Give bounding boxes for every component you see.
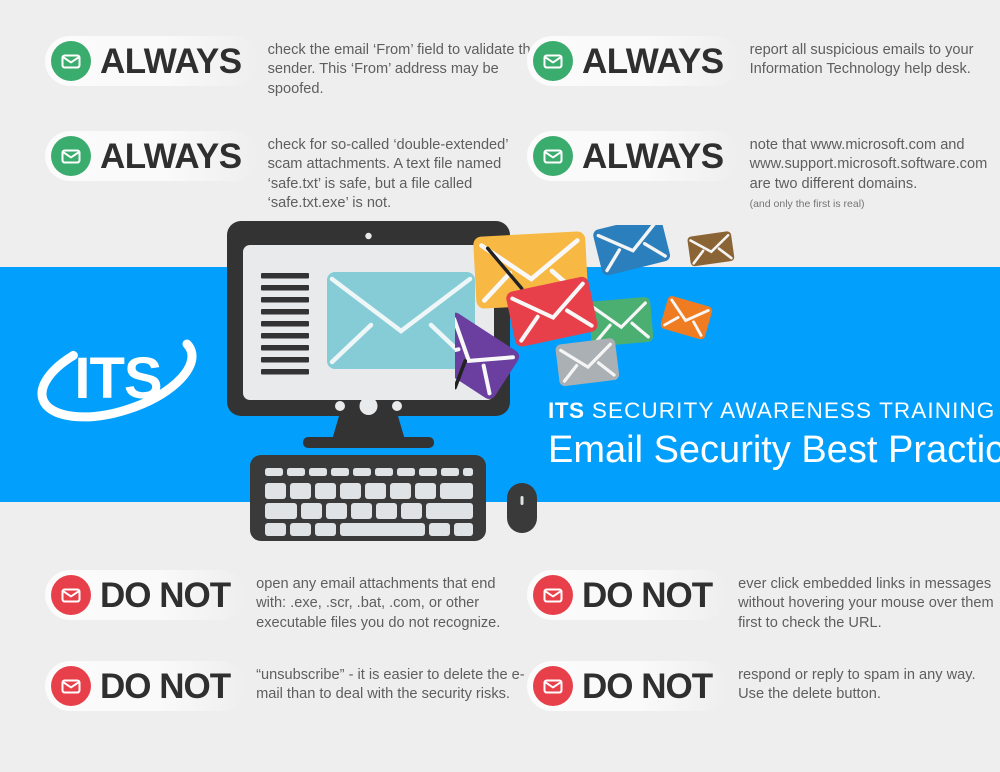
- tip-text: open any email attachments that end with…: [256, 570, 528, 633]
- flying-envelopes-group: [455, 225, 755, 415]
- envelope-icon-blue: [592, 225, 671, 277]
- tip-always-4: ALWAYS note that www.microsoft.com and w…: [527, 131, 1000, 213]
- tip-text: respond or reply to spam in any way. Use…: [738, 661, 996, 705]
- tip-pill: ALWAYS: [527, 131, 740, 181]
- tip-label: DO NOT: [582, 669, 712, 704]
- tip-label: DO NOT: [100, 578, 230, 613]
- tip-label: ALWAYS: [100, 44, 242, 79]
- infographic-page: ALWAYS check the email ‘From’ field to v…: [0, 0, 1000, 772]
- tip-pill: ALWAYS: [527, 36, 740, 86]
- envelope-badge-icon: [51, 41, 91, 81]
- envelope-badge-icon: [51, 575, 91, 615]
- tip-text: note that www.microsoft.com and www.supp…: [750, 137, 988, 192]
- tip-pill: ALWAYS: [45, 36, 258, 86]
- svg-text:ITS: ITS: [74, 346, 161, 411]
- tip-label: ALWAYS: [582, 44, 724, 79]
- tip-pill: DO NOT: [527, 570, 728, 620]
- tip-always-3: ALWAYS check for so-called ‘double-exten…: [45, 131, 540, 213]
- tip-pill: DO NOT: [45, 661, 246, 711]
- envelope-icon-brown: [687, 231, 735, 267]
- tip-pill: DO NOT: [45, 570, 246, 620]
- banner-kicker: ITS SECURITY AWARENESS TRAINING: [548, 400, 988, 423]
- tip-donot-3: DO NOT “unsubscribe” - it is easier to d…: [45, 661, 528, 711]
- envelope-badge-icon: [51, 666, 91, 706]
- its-swoosh-logo: ITS: [30, 328, 205, 423]
- tip-text: ever click embedded links in messages wi…: [738, 570, 996, 633]
- tip-text: report all suspicious emails to your Inf…: [750, 36, 1000, 80]
- envelope-icon-green: [588, 297, 654, 347]
- tip-donot-2: DO NOT ever click embedded links in mess…: [527, 570, 996, 633]
- tip-text: check for so-called ‘double-extended’ sc…: [268, 131, 540, 213]
- tip-pill: DO NOT: [527, 661, 728, 711]
- tip-note: (and only the first is real): [750, 198, 865, 210]
- mouse-icon: [507, 483, 537, 533]
- tip-pill: ALWAYS: [45, 131, 258, 181]
- kicker-brand: ITS: [548, 398, 585, 423]
- banner-headline: Email Security Best Practices: [548, 429, 988, 473]
- tip-donot-1: DO NOT open any email attachments that e…: [45, 570, 528, 633]
- tip-label: DO NOT: [100, 669, 230, 704]
- tip-text: check the email ‘From’ field to validate…: [268, 36, 540, 99]
- tip-text-wrapper: note that www.microsoft.com and www.supp…: [750, 131, 1000, 213]
- tip-donot-4: DO NOT respond or reply to spam in any w…: [527, 661, 996, 711]
- envelope-icon-gray: [555, 338, 620, 387]
- tip-always-1: ALWAYS check the email ‘From’ field to v…: [45, 36, 540, 99]
- screen-envelope-icon: [327, 272, 475, 369]
- envelope-badge-icon: [533, 575, 573, 615]
- envelope-badge-icon: [533, 136, 573, 176]
- tip-label: ALWAYS: [582, 139, 724, 174]
- kicker-rest: SECURITY AWARENESS TRAINING: [585, 398, 996, 423]
- tip-always-2: ALWAYS report all suspicious emails to y…: [527, 36, 1000, 86]
- envelope-badge-icon: [533, 666, 573, 706]
- tip-label: DO NOT: [582, 578, 712, 613]
- envelope-badge-icon: [51, 136, 91, 176]
- envelope-badge-icon: [533, 41, 573, 81]
- banner-title-block: ITS SECURITY AWARENESS TRAINING Email Se…: [548, 400, 988, 472]
- tip-label: ALWAYS: [100, 139, 242, 174]
- tip-text: “unsubscribe” - it is easier to delete t…: [256, 661, 528, 705]
- envelope-icon-orange: [660, 295, 714, 340]
